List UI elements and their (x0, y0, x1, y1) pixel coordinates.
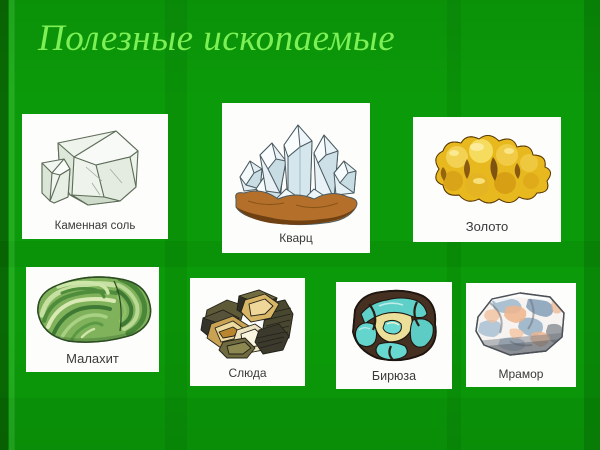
mineral-label-gold: Золото (413, 219, 561, 242)
mineral-card-mica[interactable]: Слюда (190, 278, 305, 386)
mineral-label-marble: Мрамор (466, 367, 576, 387)
mineral-card-malachite[interactable]: Малахит (26, 267, 159, 372)
mineral-card-turquoise[interactable]: Бирюза (336, 282, 452, 389)
mineral-label-mica: Слюда (190, 366, 305, 386)
background-row-divider-lower (0, 398, 600, 450)
mineral-label-malachite: Малахит (26, 351, 159, 372)
mica-flakes-illustration (190, 278, 305, 366)
quartz-crystal-cluster-illustration (222, 103, 370, 231)
gold-nugget-illustration (413, 117, 561, 219)
mineral-label-quartz: Кварц (222, 231, 370, 253)
mineral-card-marble[interactable]: Мрамор (466, 283, 576, 387)
rock-salt-crystal-illustration (22, 114, 168, 220)
presentation-slide: Полезные ископаемые Каменная соль (0, 0, 600, 450)
mineral-card-quartz[interactable]: Кварц (222, 103, 370, 253)
turquoise-stone-illustration (336, 282, 452, 369)
mineral-label-turquoise: Бирюза (336, 369, 452, 389)
mineral-label-salt: Каменная соль (22, 220, 168, 239)
background-band-right-dark (584, 0, 600, 450)
marble-stone-illustration (466, 283, 576, 367)
malachite-banded-stone-illustration (26, 267, 159, 351)
mineral-card-gold[interactable]: Золото (413, 117, 561, 242)
background-band-left-dark (0, 0, 9, 450)
background-band-left-light (9, 0, 15, 450)
background-band-mid-left (165, 0, 187, 450)
slide-title: Полезные ископаемые (38, 19, 395, 59)
mineral-card-salt[interactable]: Каменная соль (22, 114, 168, 239)
